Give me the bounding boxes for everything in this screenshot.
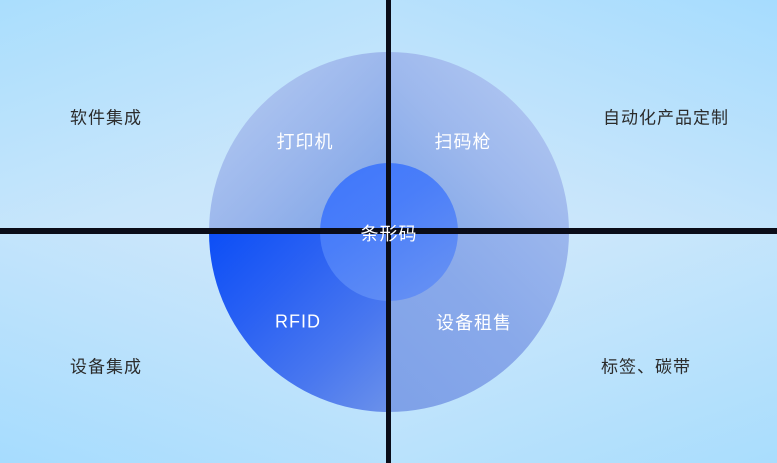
ring-label-device-rental[interactable]: 设备租售 [436, 309, 512, 335]
core-label-barcode[interactable]: 条形码 [361, 220, 418, 246]
quadrant-label-device-integration: 设备集成 [70, 353, 142, 378]
quadrant-label-software-integration: 软件集成 [70, 104, 142, 129]
quadrant-label-labels-ribbons: 标签、碳带 [601, 353, 691, 378]
ring-label-printer[interactable]: 打印机 [277, 128, 334, 154]
quadrant-label-automation-custom: 自动化产品定制 [603, 104, 729, 129]
ring-label-rfid[interactable]: RFID [275, 312, 321, 333]
ring-label-scanner[interactable]: 扫码枪 [435, 128, 492, 154]
quadrant-diagram-canvas: 打印机 扫码枪 RFID 设备租售 条形码 软件集成 自动化产品定制 设备集成 … [0, 0, 777, 463]
